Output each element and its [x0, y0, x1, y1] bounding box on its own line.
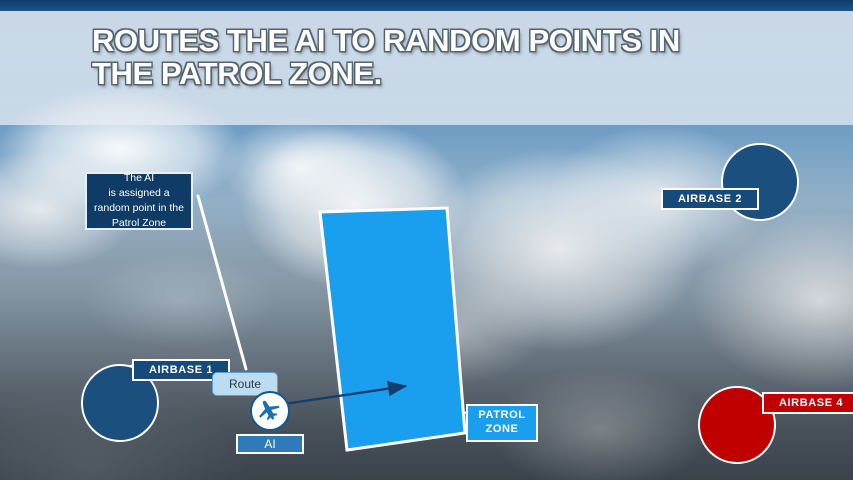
ai-assignment-callout: The AI is assigned a random point in the… — [85, 172, 193, 230]
airbase-4-label[interactable]: AIRBASE 4 — [762, 392, 853, 414]
fighter-jet-icon[interactable] — [250, 391, 290, 431]
patrol-zone-label[interactable]: PATROL ZONE — [466, 404, 538, 442]
slide-canvas: ROUTES THE AI TO RANDOM POINTS IN THE PA… — [0, 0, 853, 480]
ai-label[interactable]: AI — [236, 434, 304, 454]
airbase-2-label[interactable]: AIRBASE 2 — [661, 188, 759, 210]
fighter-jet-glyph — [256, 397, 284, 425]
ai-to-patrol-zone-arrow — [284, 386, 406, 404]
ai-route-arrow-layer — [0, 0, 853, 480]
